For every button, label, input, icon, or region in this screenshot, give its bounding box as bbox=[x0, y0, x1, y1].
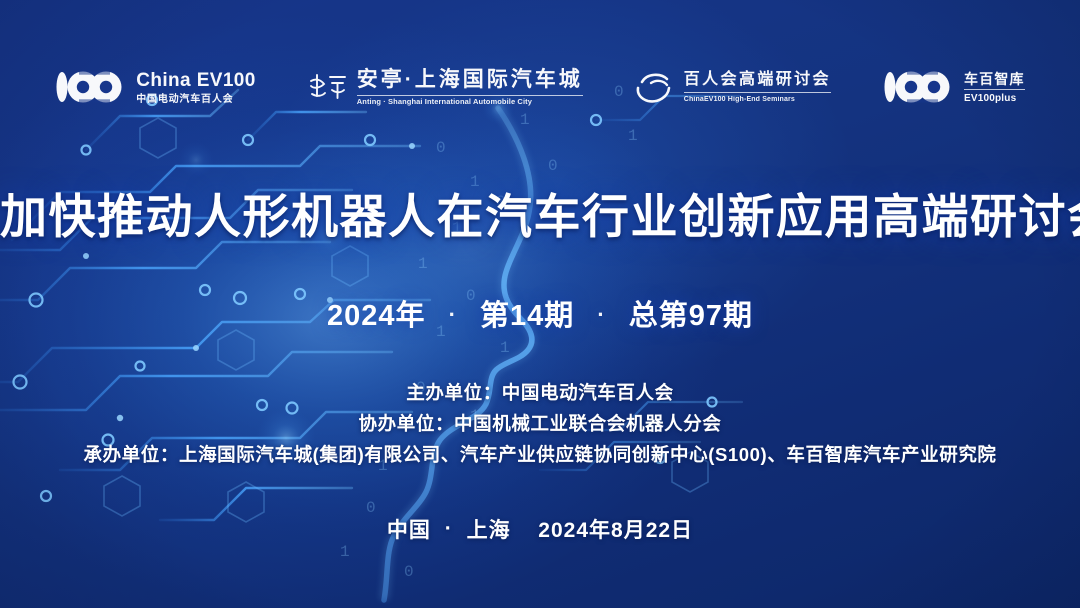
issue-separator-1: · bbox=[435, 302, 471, 327]
svg-text:1: 1 bbox=[628, 127, 638, 145]
issue-period: 第14期 bbox=[480, 300, 574, 332]
logo-seminars-cn: 百人会高端研讨会 bbox=[684, 71, 831, 89]
logo-ev100plus-text: 车百智库 EV100plus bbox=[964, 71, 1025, 105]
issue-line: 2024年 · 第14期 · 总第97期 bbox=[0, 292, 1080, 334]
footer-city: 上海 bbox=[467, 519, 511, 542]
logo-china-ev100-cn: 中国电动汽车百人会 bbox=[136, 94, 256, 106]
conference-poster: 0 1 1 0 1 0 1 1 0 1 1 0 1 0 1 0 1 0 bbox=[0, 0, 1080, 608]
logo-ev100plus-rule bbox=[964, 89, 1025, 90]
issue-year: 2024年 bbox=[327, 300, 426, 332]
ev100-infinity-mark bbox=[883, 70, 955, 104]
svg-text:1: 1 bbox=[500, 339, 510, 357]
logo-anting-rule bbox=[357, 95, 583, 96]
logo-ev100plus-en: EV100plus bbox=[964, 93, 1025, 105]
svg-text:1: 1 bbox=[340, 543, 350, 561]
logo-anting-cn: 安亭·上海国际汽车城 bbox=[357, 68, 583, 92]
organizer-coorganizer: 协办单位：中国机械工业联合会机器人分会 bbox=[0, 408, 1080, 439]
logo-china-ev100-text: China EV100 中国电动汽车百人会 bbox=[136, 70, 256, 105]
svg-text:1: 1 bbox=[520, 111, 530, 129]
logo-anting-en: Anting · Shanghai International Automobi… bbox=[357, 98, 583, 107]
logo-anting-text: 安亭·上海国际汽车城 Anting · Shanghai Internation… bbox=[357, 68, 583, 107]
logo-anting-saic: 安亭·上海国际汽车城 Anting · Shanghai Internation… bbox=[308, 68, 583, 107]
logo-strip: China EV100 中国电动汽车百人会 安亭·上海国际汽车城 bbox=[0, 68, 1080, 107]
logo-ev100plus-cn: 车百智库 bbox=[964, 71, 1025, 87]
footer-country: 中国 bbox=[387, 519, 431, 542]
logo-ev100plus: 车百智库 EV100plus bbox=[883, 70, 1025, 104]
footer-separator: · bbox=[438, 517, 460, 540]
ev100-infinity-mark bbox=[55, 70, 127, 104]
logo-seminars-rule bbox=[684, 92, 831, 93]
footer-location-date: 中国 · 上海 2024年8月22日 bbox=[0, 514, 1080, 544]
svg-text:0: 0 bbox=[548, 157, 558, 175]
page-title: 加快推动人形机器人在汽车行业创新应用高端研讨会 bbox=[0, 178, 1080, 247]
organizer-host: 主办单位：中国电动汽车百人会 bbox=[0, 377, 1080, 408]
organizer-block: 主办单位：中国电动汽车百人会 协办单位：中国机械工业联合会机器人分会 承办单位：… bbox=[0, 377, 1080, 470]
logo-china-ev100: China EV100 中国电动汽车百人会 bbox=[55, 70, 256, 105]
svg-text:1: 1 bbox=[418, 255, 428, 273]
issue-separator-2: · bbox=[583, 302, 619, 327]
logo-seminars-en: ChinaEV100 High-End Seminars bbox=[684, 96, 831, 104]
footer-date-value: 2024年8月22日 bbox=[538, 519, 693, 542]
svg-text:0: 0 bbox=[436, 139, 446, 157]
issue-total: 总第97期 bbox=[629, 300, 753, 332]
anting-calligraphy-mark bbox=[308, 72, 348, 102]
logo-seminars-text: 百人会高端研讨会 ChinaEV100 High-End Seminars bbox=[684, 71, 831, 103]
logo-china-ev100-brand: China EV100 bbox=[136, 70, 256, 92]
svg-text:0: 0 bbox=[404, 563, 414, 581]
swoosh-arc-mark bbox=[635, 70, 675, 104]
organizer-undertaker: 承办单位：上海国际汽车城(集团)有限公司、汽车产业供应链协同创新中心(S100)… bbox=[0, 439, 1080, 470]
logo-high-end-seminars: 百人会高端研讨会 ChinaEV100 High-End Seminars bbox=[635, 70, 831, 104]
